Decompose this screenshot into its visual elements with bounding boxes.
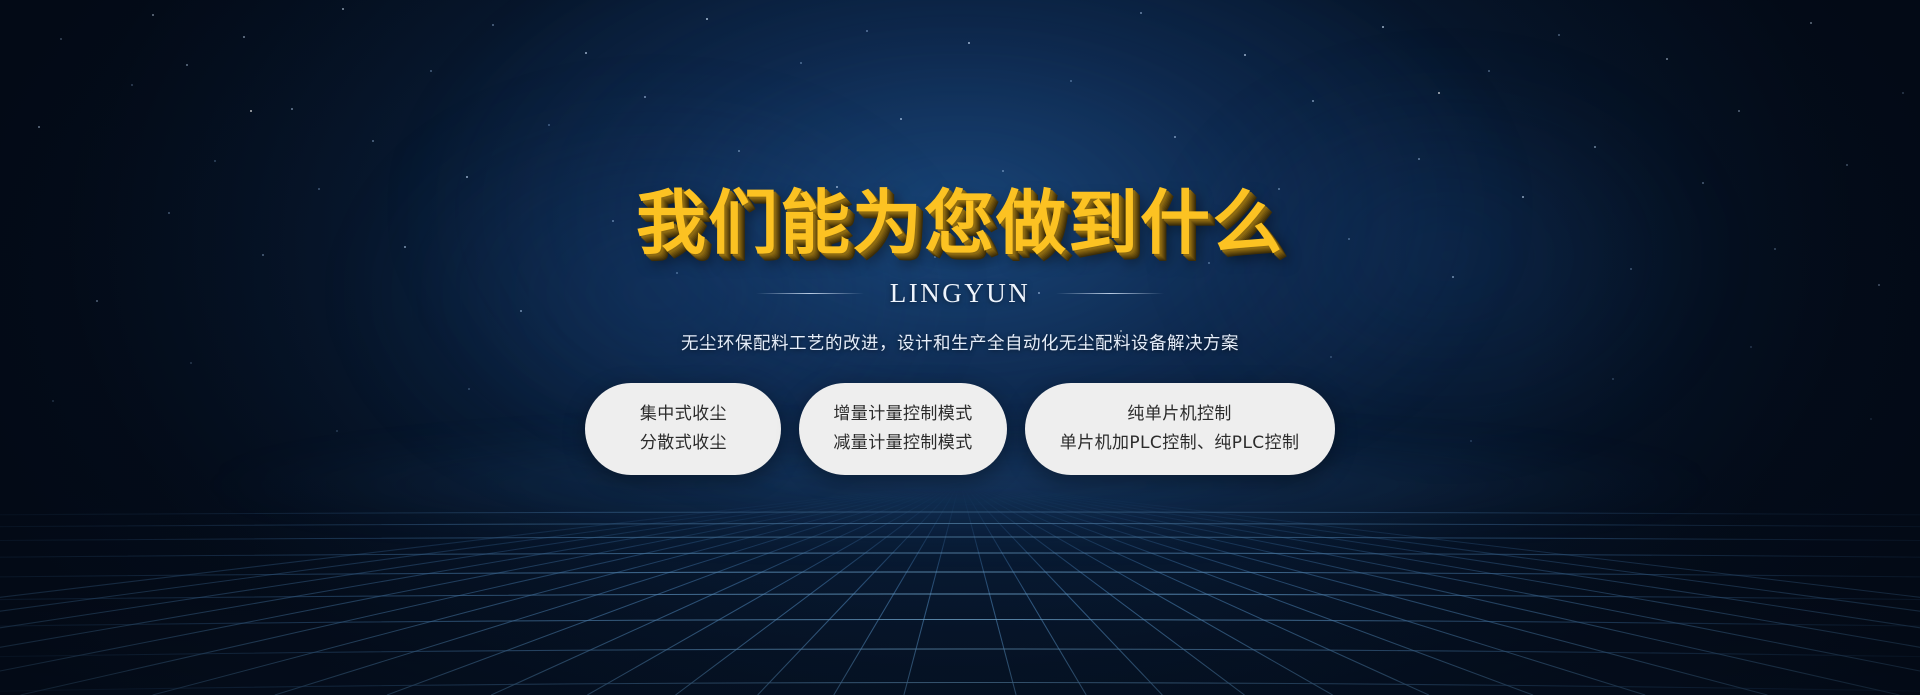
pill-line-1: 集中式收尘: [640, 406, 727, 423]
subtitle-row: LINGYUN: [756, 278, 1164, 309]
subtitle-rule-left: [756, 293, 864, 294]
banner-content: 我们能为您做到什么 LINGYUN 无尘环保配料工艺的改进，设计和生产全自动化无…: [0, 0, 1920, 475]
subtitle-brand: LINGYUN: [890, 278, 1030, 309]
pill-line-1: 增量计量控制模式: [833, 406, 972, 423]
grid-svg: [0, 480, 1920, 695]
perspective-grid: [0, 480, 1920, 695]
subtitle-rule-right: [1056, 293, 1164, 294]
feature-pill-dust-collection[interactable]: 集中式收尘 分散式收尘: [585, 383, 781, 475]
feature-pill-metering-mode[interactable]: 增量计量控制模式 减量计量控制模式: [799, 383, 1006, 475]
pill-line-2: 减量计量控制模式: [833, 435, 972, 452]
pill-line-1: 纯单片机控制: [1127, 406, 1231, 423]
hero-banner: 我们能为您做到什么 LINGYUN 无尘环保配料工艺的改进，设计和生产全自动化无…: [0, 0, 1920, 695]
feature-pill-group: 集中式收尘 分散式收尘 增量计量控制模式 减量计量控制模式 纯单片机控制 单片机…: [585, 383, 1334, 475]
pill-line-2: 单片机加PLC控制、纯PLC控制: [1060, 435, 1300, 452]
page-title: 我们能为您做到什么: [636, 188, 1284, 258]
pill-line-2: 分散式收尘: [640, 435, 727, 452]
banner-description: 无尘环保配料工艺的改进，设计和生产全自动化无尘配料设备解决方案: [681, 330, 1239, 355]
feature-pill-control-system[interactable]: 纯单片机控制 单片机加PLC控制、纯PLC控制: [1025, 383, 1335, 475]
